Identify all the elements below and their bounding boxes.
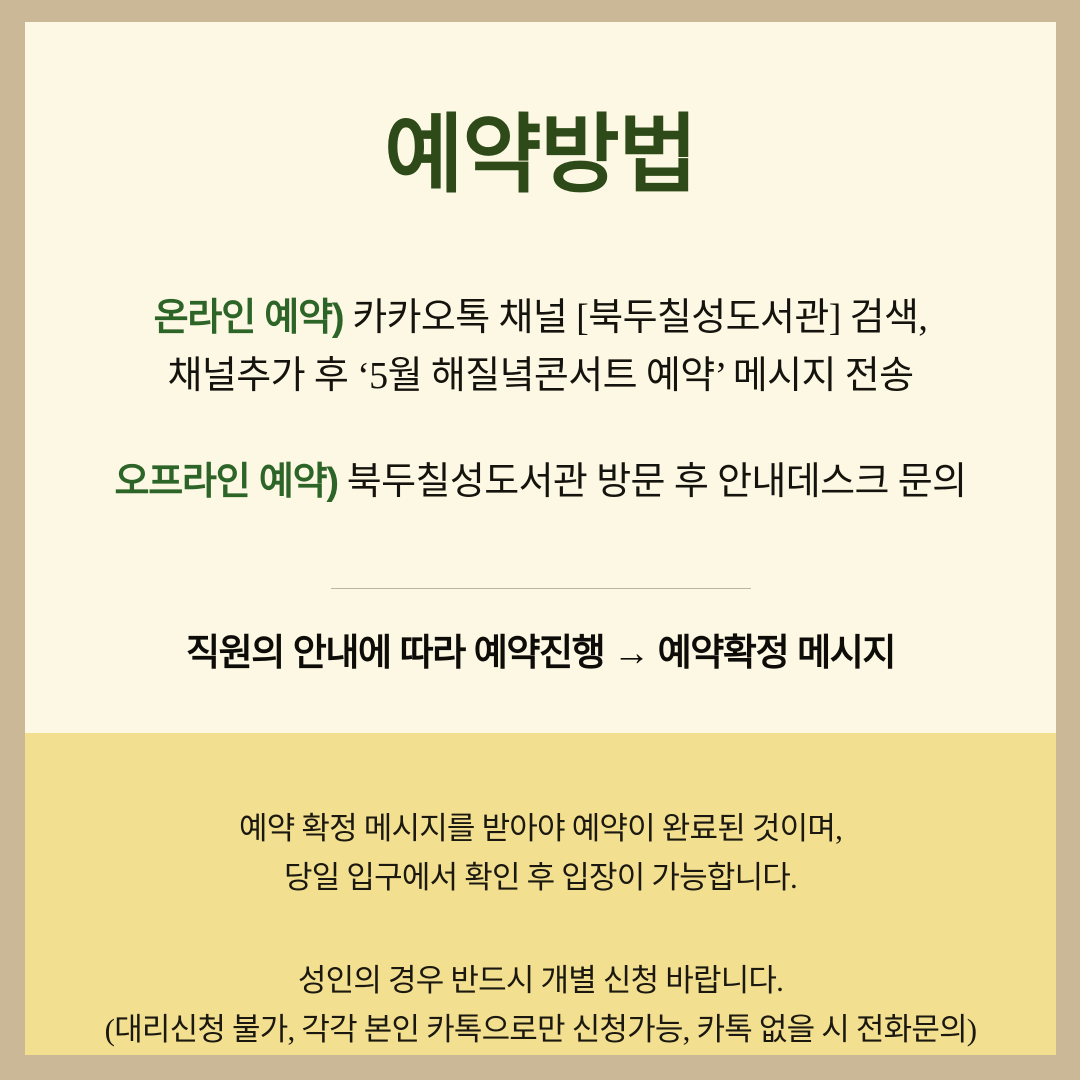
notice-adult-line2: (대리신청 불가, 각각 본인 카톡으로만 신청가능, 카톡 없을 시 전화문의… — [105, 1012, 977, 1047]
poster-frame: 예약방법 온라인 예약) 카카오톡 채널 [북두칠성도서관] 검색, 채널추가 … — [0, 0, 1080, 1080]
notice-block-individual-application: 성인의 경우 반드시 개별 신청 바랍니다. (대리신청 불가, 각각 본인 카… — [105, 957, 977, 1055]
section-divider-wrap — [25, 588, 1056, 589]
poster-card: 예약방법 온라인 예약) 카카오톡 채널 [북두칠성도서관] 검색, 채널추가 … — [25, 22, 1056, 1055]
online-reservation-label: 온라인 예약) — [154, 297, 344, 339]
page-title: 예약방법 — [25, 112, 1056, 198]
notice-adult-line1: 성인의 경우 반드시 개별 신청 바랍니다. — [298, 963, 783, 998]
notice-panel: 예약 확정 메시지를 받아야 예약이 완료된 것이며, 당일 입구에서 확인 후… — [25, 733, 1056, 1055]
notice-confirmation-line2: 당일 입구에서 확인 후 입장이 가능합니다. — [284, 860, 797, 895]
notice-confirmation-line1: 예약 확정 메시지를 받아야 예약이 완료된 것이며, — [239, 811, 842, 846]
notice-block-confirmation: 예약 확정 메시지를 받아야 예약이 완료된 것이며, 당일 입구에서 확인 후… — [239, 805, 842, 903]
reservation-methods-list: 온라인 예약) 카카오톡 채널 [북두칠성도서관] 검색, 채널추가 후 ‘5월… — [25, 290, 1056, 511]
online-reservation-row: 온라인 예약) 카카오톡 채널 [북두칠성도서관] 검색, 채널추가 후 ‘5월… — [25, 290, 1056, 406]
online-reservation-text-line2: 채널추가 후 ‘5월 해질녘콘서트 예약’ 메시지 전송 — [168, 355, 914, 397]
offline-reservation-row: 오프라인 예약) 북두칠성도서관 방문 후 안내데스크 문의 — [25, 454, 1056, 512]
offline-reservation-label: 오프라인 예약) — [115, 461, 338, 503]
reservation-method-panel: 예약방법 온라인 예약) 카카오톡 채널 [북두칠성도서관] 검색, 채널추가 … — [25, 22, 1056, 733]
reservation-flow-callout: 직원의 안내에 따라 예약진행 → 예약확정 메시지 — [25, 628, 1056, 678]
section-divider — [331, 588, 751, 589]
offline-reservation-text-line1: 북두칠성도서관 방문 후 안내데스크 문의 — [338, 461, 967, 503]
online-reservation-text-line1: 카카오톡 채널 [북두칠성도서관] 검색, — [343, 297, 927, 339]
